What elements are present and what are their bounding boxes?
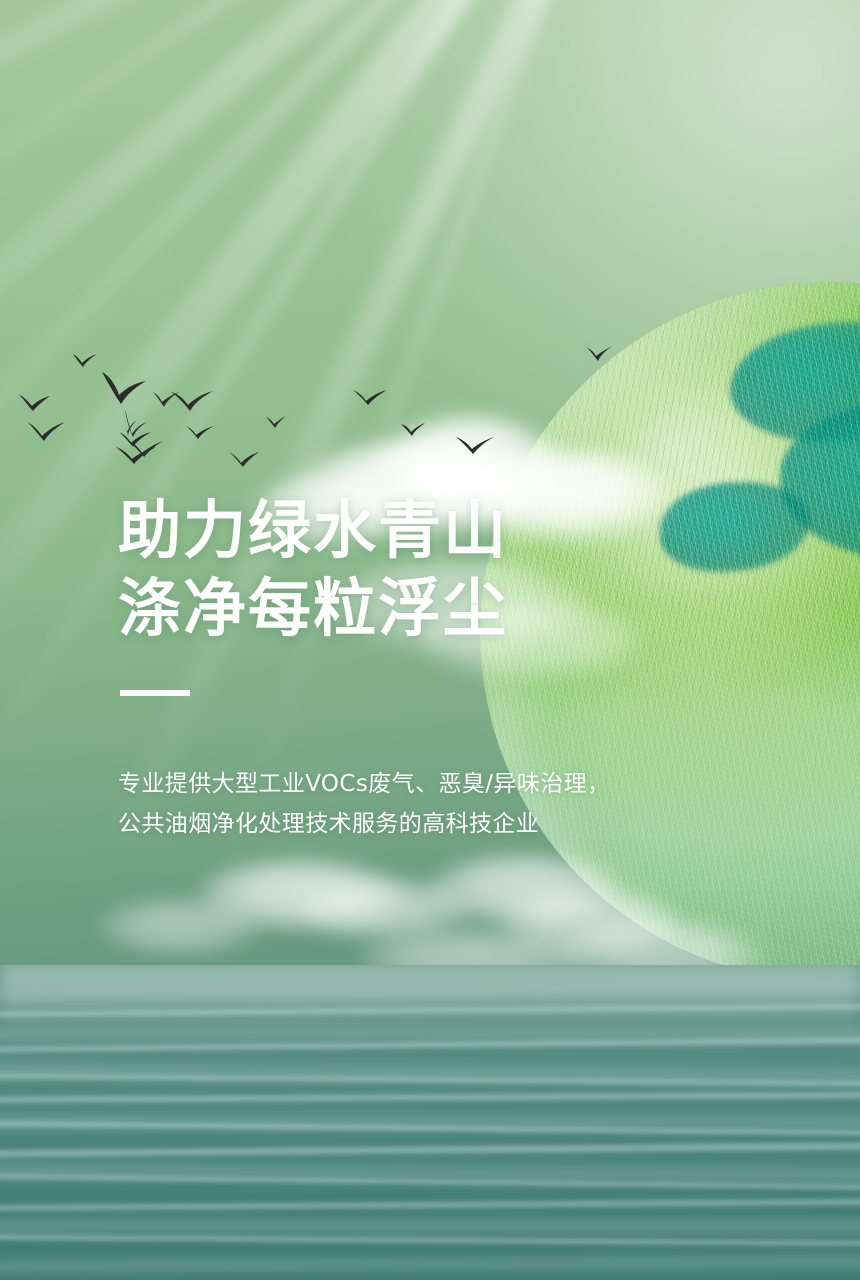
subtitle-line-1: 专业提供大型工业VOCs废气、恶臭/异味治理， <box>118 764 610 804</box>
subtitle-line-2: 公共油烟净化处理技术服务的高科技企业 <box>118 804 610 844</box>
headline-line-1: 助力绿水青山 <box>118 492 508 570</box>
page-title: 助力绿水青山 涤净每粒浮尘 <box>118 492 508 648</box>
text-content: 助力绿水青山 涤净每粒浮尘 专业提供大型工业VOCs废气、恶臭/异味治理， 公共… <box>118 0 758 1280</box>
title-divider <box>120 690 190 696</box>
page-subtitle: 专业提供大型工业VOCs废气、恶臭/异味治理， 公共油烟净化处理技术服务的高科技… <box>118 764 610 844</box>
poster-canvas: 助力绿水青山 涤净每粒浮尘 专业提供大型工业VOCs废气、恶臭/异味治理， 公共… <box>0 0 860 1280</box>
headline-line-2: 涤净每粒浮尘 <box>118 570 508 648</box>
